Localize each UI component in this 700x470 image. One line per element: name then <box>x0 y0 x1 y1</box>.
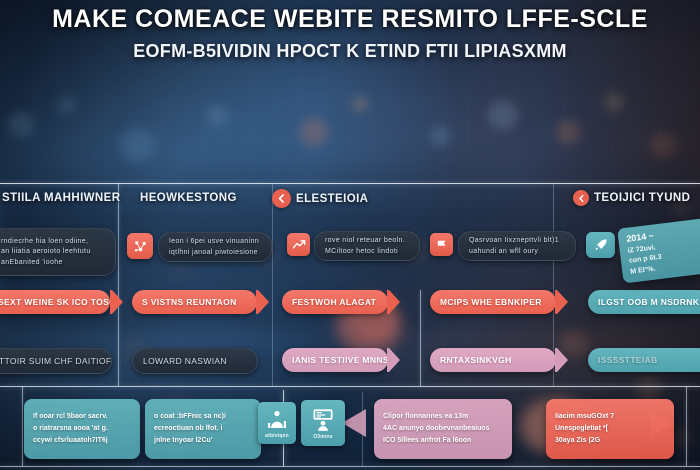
row2-col1-label: SEXT WEINE SK ICO TOSO R <box>0 297 110 308</box>
row2-col4-label: MCIPS WHE EBNKIPER <box>430 297 552 308</box>
tile-4-caption: atbiviqen <box>265 433 289 439</box>
chevron-right-icon <box>387 348 400 372</box>
row2-col5-label: ILGST OOB M NSDRNK <box>588 297 700 308</box>
person-desk-icon <box>310 407 336 433</box>
divider-footer <box>0 466 700 467</box>
column-divider-3 <box>420 290 421 386</box>
column-header-1[interactable]: STIILA MAHHIWNER <box>2 192 120 204</box>
network-nodes-icon <box>133 239 148 254</box>
callout-1-line-3: ccywi cfsrluaatoh7IT6j <box>33 436 131 446</box>
flag-icon-tile[interactable] <box>430 233 453 256</box>
callout-2-line-3: jnlne tnyoar l2Cu' <box>154 436 252 446</box>
chevron-right-icon <box>387 290 400 314</box>
row1-col2-text: Ieon i 6pei usve vinuaninn iqtlhni janoa… <box>159 237 269 256</box>
callout-card[interactable]: If ooar rcl 5baor sacrv. o riatrarsna ao… <box>24 399 140 459</box>
row3-col5-label: ISSSSTTEIAB <box>588 355 668 366</box>
list-item[interactable]: rove niol reteuar beoln. MCiltoor hetoc … <box>314 231 420 261</box>
table-row[interactable]: IANIS TESTIIVE MNNSRATIVE <box>282 348 388 372</box>
row1-col3-text: rove niol reteuar beoln. MCiltoor hetoc … <box>315 236 415 255</box>
callout-1-line-1: If ooar rcl 5baor sacrv. <box>33 412 131 422</box>
column-header-4[interactable]: TEOIJICI TYUND <box>573 190 690 206</box>
trend-arrow-icon <box>292 238 306 252</box>
callout-card[interactable]: Clipor flonnannes ea 13m 4AC anunyo doob… <box>374 399 512 459</box>
table-row[interactable]: S VISTNS REUNTAON <box>132 290 257 314</box>
chevron-right-icon <box>256 290 269 314</box>
column-header-3[interactable]: ELESTEIOIA <box>272 189 368 208</box>
flag-icon <box>435 238 449 252</box>
callout-1-line-2: o riatrarsna aooa 'at g. <box>33 424 131 434</box>
footer-divider-right <box>686 386 687 466</box>
row2-col2-label: S VISTNS REUNTAON <box>132 297 247 308</box>
callout-4-line-1: Iiacim msuGOxt 7 <box>555 412 665 422</box>
list-item[interactable]: rndiecrhe hia loen odiine, an liiatia ae… <box>0 228 116 276</box>
table-row[interactable]: RNTAXSINKVGH <box>430 348 556 372</box>
row2-col3-label: FESTWOH ALAGAT <box>282 297 386 308</box>
row3-col4-label: RNTAXSINKVGH <box>430 355 522 366</box>
network-nodes-icon-tile[interactable] <box>127 233 153 259</box>
chevron-right-icon <box>555 348 568 372</box>
table-row[interactable]: FESTWOH ALAGAT <box>282 290 388 314</box>
row3-col2-label: LOWARD NASWIAN <box>133 356 237 367</box>
column-header-2[interactable]: HEOWKESTONG <box>140 192 237 204</box>
person-desk-icon-tile[interactable]: O3mins <box>301 400 345 446</box>
column-divider-2 <box>272 183 273 386</box>
callout-2-line-1: o coat :bFFnic sa nc)i <box>154 412 252 422</box>
column-header-1-label: STIILA MAHHIWNER <box>2 192 120 204</box>
callout-2-line-2: ecreoctiuan ob lfot. i <box>154 424 252 434</box>
page-subtitle: EOFM-B5IVIDIN HPOCT K ETIND FTII LIPIASX… <box>0 41 700 62</box>
table-row[interactable]: LOWARD NASWIAN <box>132 348 258 374</box>
table-row[interactable]: MCIPS WHE EBNKIPER <box>430 290 556 314</box>
infographic-canvas: MAKE COMEACE WEBITE RESMITO LFFE-SCLE EO… <box>0 0 700 470</box>
chevron-left-icon[interactable] <box>272 189 291 208</box>
callout-card[interactable]: Iiacim msuGOxt 7 Unespegletiat *[ 30aya … <box>546 399 674 459</box>
page-title: MAKE COMEACE WEBITE RESMITO LFFE-SCLE <box>0 6 700 32</box>
table-row[interactable]: ILGST OOB M NSDRNK <box>588 290 700 314</box>
person-chart-icon <box>265 408 289 432</box>
callout-4-line-2: Unespegletiat *[ <box>555 424 665 434</box>
row3-col1-label: TTOIR SUIM CHF DAITIOFE <box>0 356 111 367</box>
footer-divider-left <box>22 386 23 466</box>
divider-bottom <box>0 386 700 387</box>
table-row[interactable]: TTOIR SUIM CHF DAITIOFE <box>0 348 112 374</box>
callout-3-line-1: Clipor flonnannes ea 13m <box>383 412 503 422</box>
callout-3-line-2: 4AC anunyo doobevnanbeaiuos <box>383 424 503 434</box>
column-header-2-label: HEOWKESTONG <box>140 192 237 204</box>
chevron-right-icon <box>555 290 568 314</box>
table-row[interactable]: SEXT WEINE SK ICO TOSO R <box>0 290 110 314</box>
callout-4-line-3: 30aya Zis (2G <box>555 436 665 446</box>
tile-5-caption: O3mins <box>313 434 333 440</box>
rocket-icon-tile[interactable] <box>586 232 615 258</box>
column-divider-1 <box>118 183 119 386</box>
row1-col4-text: Qasrvoan Iixznepttvli blt)1 uahundi an w… <box>459 236 569 255</box>
person-chart-icon-tile[interactable]: atbiviqen <box>258 402 296 444</box>
table-row[interactable]: ISSSSTTEIAB <box>588 348 700 372</box>
callout-3-line-3: ICO 5lllees anfrot Fa l6oon <box>383 436 503 446</box>
rocket-icon <box>593 237 609 253</box>
column-header-4-label: TEOIJICI TYUND <box>594 192 690 204</box>
row1-col1-text: rndiecrhe hia loen odiine, an liiatia ae… <box>0 237 101 266</box>
list-item[interactable]: Qasrvoan Iixznepttvli blt)1 uahundi an w… <box>458 231 576 261</box>
column-header-3-label: ELESTEIOIA <box>296 193 368 205</box>
trend-arrow-icon-tile[interactable] <box>287 233 310 256</box>
chevron-left-icon[interactable] <box>573 190 589 206</box>
row3-col3-label: IANIS TESTIIVE MNNSRATIVE <box>282 355 388 366</box>
callout-card[interactable]: o coat :bFFnic sa nc)i ecreoctiuan ob lf… <box>145 399 261 459</box>
title-block: MAKE COMEACE WEBITE RESMITO LFFE-SCLE EO… <box>0 6 700 62</box>
list-item[interactable]: Ieon i 6pei usve vinuaninn iqtlhni janoa… <box>158 232 272 262</box>
chevron-right-icon <box>110 290 123 314</box>
header-divider-top <box>0 183 700 184</box>
